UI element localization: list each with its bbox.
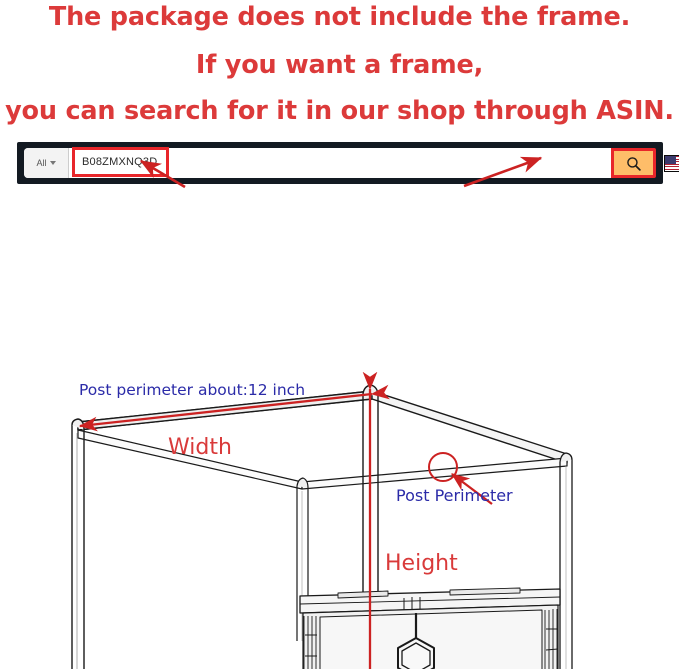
bed-frame-group <box>70 385 572 669</box>
amazon-search-bar: All B08ZMXNQ3D <box>17 142 663 184</box>
bed-diagram: Post perimeter about:12 inch Post Perime… <box>0 186 679 669</box>
search-bar-inner: All B08ZMXNQ3D <box>24 148 656 178</box>
search-button[interactable] <box>611 148 656 178</box>
label-post-perimeter-side: Post Perimeter <box>396 486 513 505</box>
headboard <box>300 588 560 669</box>
product-infographic: The package does not include the frame. … <box>0 0 679 669</box>
headline-line-3: you can search for it in our shop throug… <box>0 96 679 126</box>
label-height: Height <box>385 551 458 576</box>
label-post-perimeter-top: Post perimeter about:12 inch <box>79 381 305 399</box>
bed-line-drawing <box>0 186 679 669</box>
label-width: Width <box>168 435 232 460</box>
search-icon <box>625 155 642 172</box>
search-category-dropdown[interactable]: All <box>24 148 69 178</box>
post-right <box>560 453 572 669</box>
us-flag-icon <box>664 155 679 172</box>
canopy-top-rails <box>78 391 567 489</box>
chevron-down-icon <box>50 161 56 165</box>
post-front-left <box>70 419 86 669</box>
locale-selector[interactable] <box>664 152 679 174</box>
search-input[interactable]: B08ZMXNQ3D <box>72 147 169 177</box>
search-pointer-arrows <box>0 0 679 70</box>
search-category-label: All <box>36 158 46 168</box>
